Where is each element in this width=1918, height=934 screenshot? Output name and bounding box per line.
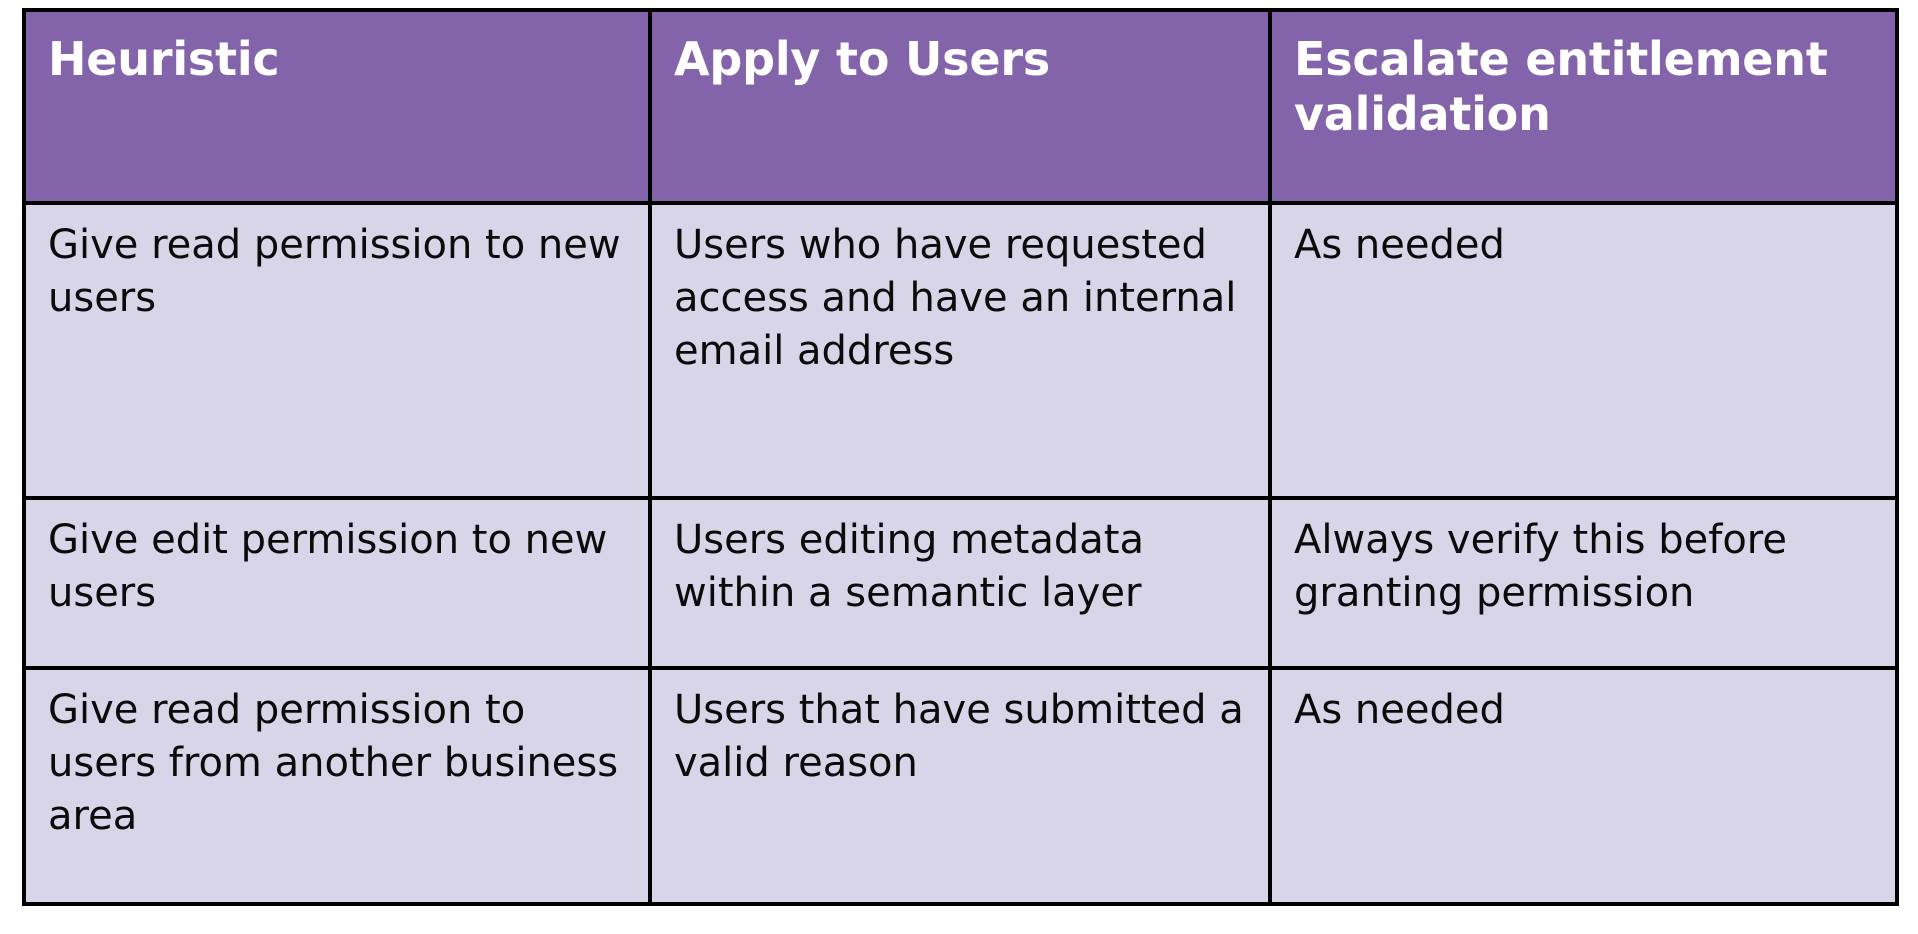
column-header-heuristic: Heuristic: [24, 10, 650, 203]
cell-text: Give edit permission to new users: [48, 514, 626, 620]
cell-text: As needed: [1294, 684, 1873, 737]
cell-escalate: As needed: [1270, 203, 1897, 498]
table-row: Give edit permission to new users Users …: [24, 498, 1897, 668]
heuristic-entitlement-table: Heuristic Apply to Users Escalate entitl…: [22, 8, 1899, 906]
cell-text: Give read permission to users from anoth…: [48, 684, 626, 842]
table-header: Heuristic Apply to Users Escalate entitl…: [24, 10, 1897, 203]
cell-text: Users that have submitted a valid reason: [674, 684, 1246, 790]
slide-canvas: Heuristic Apply to Users Escalate entitl…: [0, 0, 1918, 934]
cell-text: Users who have requested access and have…: [674, 219, 1246, 377]
cell-heuristic: Give edit permission to new users: [24, 498, 650, 668]
cell-text: Users editing metadata within a semantic…: [674, 514, 1246, 620]
cell-text: Always verify this before granting permi…: [1294, 514, 1873, 620]
cell-apply-to-users: Users who have requested access and have…: [650, 203, 1270, 498]
table-row: Give read permission to new users Users …: [24, 203, 1897, 498]
cell-text: As needed: [1294, 219, 1873, 272]
column-header-escalate-entitlement-validation: Escalate entitlement validation: [1270, 10, 1897, 203]
cell-apply-to-users: Users editing metadata within a semantic…: [650, 498, 1270, 668]
table-container: Heuristic Apply to Users Escalate entitl…: [22, 8, 1895, 906]
column-header-apply-to-users: Apply to Users: [650, 10, 1270, 203]
table-body: Give read permission to new users Users …: [24, 203, 1897, 904]
cell-apply-to-users: Users that have submitted a valid reason: [650, 668, 1270, 904]
cell-escalate: Always verify this before granting permi…: [1270, 498, 1897, 668]
cell-heuristic: Give read permission to new users: [24, 203, 650, 498]
cell-text: Give read permission to new users: [48, 219, 626, 325]
cell-heuristic: Give read permission to users from anoth…: [24, 668, 650, 904]
table-row: Give read permission to users from anoth…: [24, 668, 1897, 904]
header-row: Heuristic Apply to Users Escalate entitl…: [24, 10, 1897, 203]
cell-escalate: As needed: [1270, 668, 1897, 904]
